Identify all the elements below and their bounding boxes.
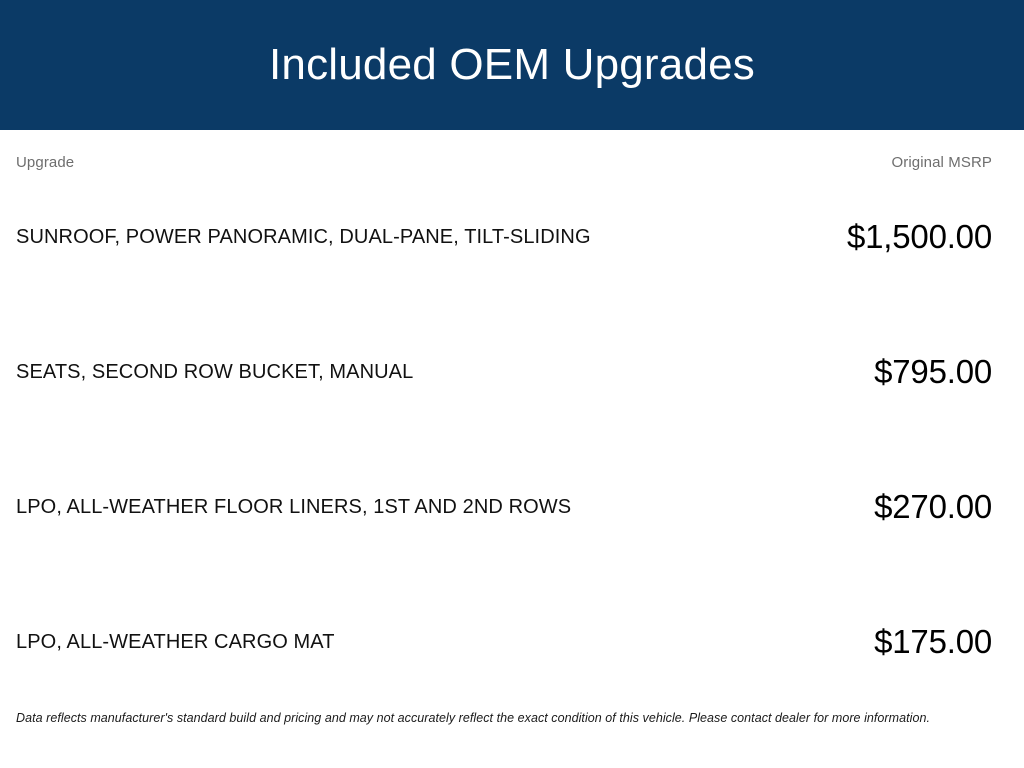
upgrade-price: $270.00 — [874, 488, 992, 526]
upgrade-name: LPO, ALL-WEATHER FLOOR LINERS, 1ST AND 2… — [16, 496, 656, 519]
table-row: SUNROOF, POWER PANORAMIC, DUAL-PANE, TIL… — [16, 170, 992, 305]
table-rows: SUNROOF, POWER PANORAMIC, DUAL-PANE, TIL… — [16, 170, 992, 710]
disclaimer-text: Data reflects manufacturer's standard bu… — [0, 710, 1024, 768]
column-header-original-msrp: Original MSRP — [892, 154, 993, 171]
page-title: Included OEM Upgrades — [269, 41, 755, 89]
upgrade-price: $175.00 — [874, 623, 992, 661]
upgrade-name: LPO, ALL-WEATHER CARGO MAT — [16, 631, 656, 654]
table-row: SEATS, SECOND ROW BUCKET, MANUAL $795.00 — [16, 305, 992, 440]
oem-upgrades-page: Included OEM Upgrades Upgrade Original M… — [0, 0, 1024, 768]
upgrade-name: SUNROOF, POWER PANORAMIC, DUAL-PANE, TIL… — [16, 226, 656, 249]
column-header-upgrade: Upgrade — [16, 154, 74, 171]
upgrade-price: $795.00 — [874, 353, 992, 391]
table-row: LPO, ALL-WEATHER FLOOR LINERS, 1ST AND 2… — [16, 440, 992, 575]
table-column-headers: Upgrade Original MSRP — [16, 130, 992, 170]
upgrade-name: SEATS, SECOND ROW BUCKET, MANUAL — [16, 361, 656, 384]
upgrade-price: $1,500.00 — [847, 218, 992, 256]
table-row: LPO, ALL-WEATHER CARGO MAT $175.00 — [16, 575, 992, 710]
page-header-band: Included OEM Upgrades — [0, 0, 1024, 130]
upgrades-table: Upgrade Original MSRP SUNROOF, POWER PAN… — [0, 130, 1024, 710]
